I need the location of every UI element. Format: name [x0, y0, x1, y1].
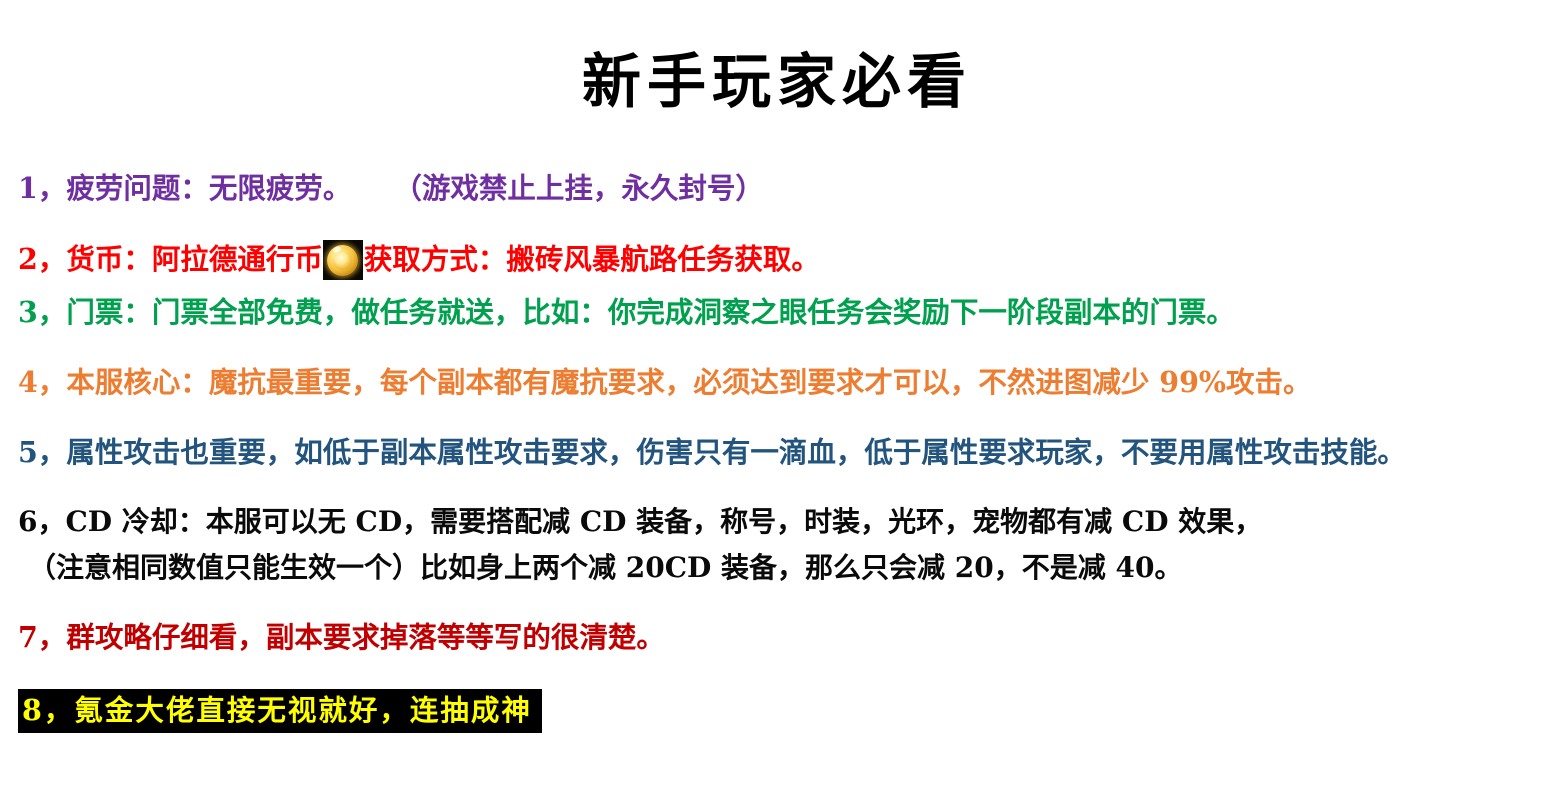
- list-item-6-line-1: 6，CD 冷却：本服可以无 CD，需要搭配减 CD 装备，称号，时装，光环，宠物…: [18, 504, 1548, 540]
- item-4-text: 本服核心：魔抗最重要，每个副本都有魔抗要求，必须达到要求才可以，不然进图减少 9…: [66, 365, 1311, 399]
- item-7-text: 群攻略仔细看，副本要求掉落等等写的很清楚。: [66, 620, 665, 654]
- guide-list: 1，疲劳问题：无限疲劳。（游戏禁止上挂，永久封号） 2，货币：阿拉德通行币获取方…: [18, 170, 1548, 733]
- item-1-number: 1，: [18, 171, 66, 205]
- item-7-number: 7，: [18, 620, 66, 654]
- item-2-text-after: 获取方式：搬砖风暴航路任务获取。: [364, 242, 820, 276]
- list-item-3: 3，门票：门票全部免费，做任务就送，比如：你完成洞察之眼任务会奖励下一阶段副本的…: [18, 294, 1548, 331]
- list-item-2: 2，货币：阿拉德通行币获取方式：搬砖风暴航路任务获取。: [18, 240, 1548, 280]
- spacer-6: [18, 586, 1548, 619]
- item-8-number: 8，: [22, 693, 74, 727]
- item-2-number: 2，: [18, 242, 66, 276]
- spacer-4: [18, 401, 1548, 434]
- spacer-5: [18, 471, 1548, 504]
- item-5-number: 5，: [18, 435, 66, 469]
- list-item-1: 1，疲劳问题：无限疲劳。（游戏禁止上挂，永久封号）: [18, 170, 1548, 207]
- spacer-6a: [18, 541, 1548, 550]
- item-1-text: 疲劳问题：无限疲劳。: [66, 171, 351, 205]
- list-item-7: 7，群攻略仔细看，副本要求掉落等等写的很清楚。: [18, 619, 1548, 656]
- item-3-number: 3，: [18, 295, 66, 329]
- item-4-number: 4，: [18, 365, 66, 399]
- list-item-8: 8，氪金大佬直接无视就好，连抽成神: [18, 689, 542, 733]
- item-8-text: 氪金大佬直接无视就好，连抽成神: [74, 693, 532, 727]
- list-item-6-line-2: （注意相同数值只能生效一个）比如身上两个减 20CD 装备，那么只会减 20，不…: [18, 550, 1548, 586]
- spacer-2: [18, 280, 1548, 294]
- list-item-5: 5，属性攻击也重要，如低于副本属性攻击要求，伤害只有一滴血，低于属性要求玩家，不…: [18, 434, 1548, 471]
- guide-page: 新手玩家必看 1，疲劳问题：无限疲劳。（游戏禁止上挂，永久封号） 2，货币：阿拉…: [0, 0, 1554, 803]
- list-item-4: 4，本服核心：魔抗最重要，每个副本都有魔抗要求，必须达到要求才可以，不然进图减少…: [18, 364, 1548, 401]
- spacer-1: [18, 207, 1548, 240]
- item-5-text: 属性攻击也重要，如低于副本属性攻击要求，伤害只有一滴血，低于属性要求玩家，不要用…: [66, 435, 1406, 469]
- coin-inner-disc: [333, 251, 352, 270]
- list-item-8-wrapper: 8，氪金大佬直接无视就好，连抽成神: [18, 689, 1548, 733]
- item-6-number: 6，: [18, 505, 65, 538]
- item-6-text-line-2: （注意相同数值只能生效一个）比如身上两个减 20CD 装备，那么只会减 20，不…: [28, 551, 1182, 584]
- gold-coin-icon: [323, 240, 363, 280]
- item-2-text-before: 货币：阿拉德通行币: [66, 242, 323, 276]
- page-title: 新手玩家必看: [0, 48, 1554, 116]
- item-6-text-line-1: CD 冷却：本服可以无 CD，需要搭配减 CD 装备，称号，时装，光环，宠物都有…: [65, 505, 1262, 538]
- spacer-3: [18, 331, 1548, 364]
- item-3-text: 门票：门票全部免费，做任务就送，比如：你完成洞察之眼任务会奖励下一阶段副本的门票…: [66, 295, 1235, 329]
- spacer-7: [18, 656, 1548, 689]
- item-1-note: （游戏禁止上挂，永久封号）: [393, 171, 764, 205]
